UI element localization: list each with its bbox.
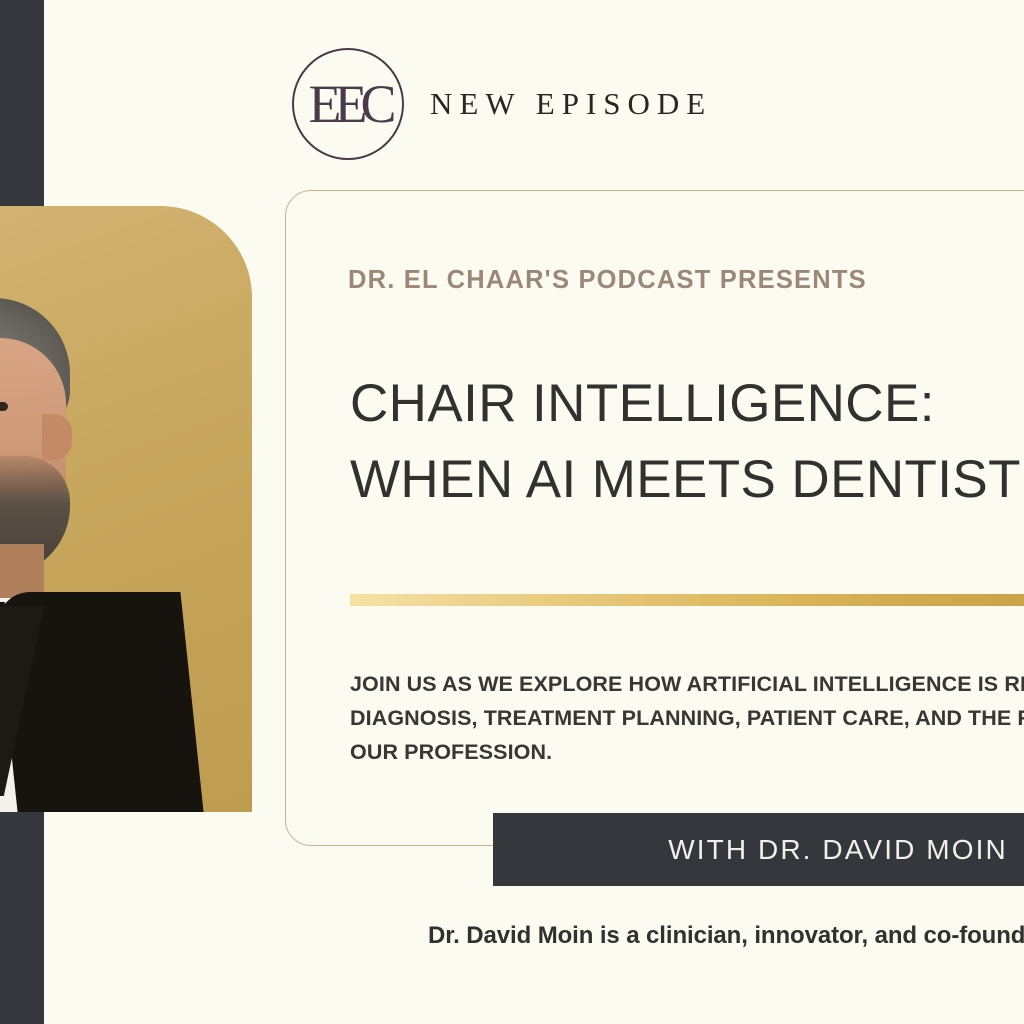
eec-circle-logo-icon: EEC [292,48,404,160]
episode-title-line-2: WHEN AI MEETS DENTISTRY [350,442,1024,518]
guest-photo [0,206,252,812]
episode-promo-canvas: EEC NEW EPISODE DR. EL CHAAR'S PODCAST P… [0,0,1024,1024]
new-episode-badge: NEW EPISODE [430,86,712,122]
guest-name-label: WITH DR. DAVID MOIN [538,834,1008,866]
episode-description-line-3: OUR PROFESSION. [350,736,1024,770]
guest-portrait-illustration [0,206,212,812]
guest-bio: Dr. David Moin is a clinician, innovator… [428,922,1024,950]
portrait-ear [42,414,72,460]
podcast-eyebrow: DR. EL CHAAR'S PODCAST PRESENTS [348,266,867,295]
episode-description-line-1: JOIN US AS WE EXPLORE HOW ARTIFICIAL INT… [350,668,1024,702]
left-dark-rail-bottom [0,812,44,1024]
brand-header: EEC NEW EPISODE [292,48,712,160]
gold-gradient-divider [350,594,1024,606]
episode-description-line-2: DIAGNOSIS, TREATMENT PLANNING, PATIENT C… [350,702,1024,736]
guest-name-bar: WITH DR. DAVID MOIN [493,813,1024,886]
episode-description: JOIN US AS WE EXPLORE HOW ARTIFICIAL INT… [350,668,1024,770]
episode-title: CHAIR INTELLIGENCE: WHEN AI MEETS DENTIS… [350,366,1024,519]
logo-monogram: EEC [307,77,390,131]
episode-title-line-1: CHAIR INTELLIGENCE: [350,366,1024,442]
left-dark-rail-top [0,0,44,206]
